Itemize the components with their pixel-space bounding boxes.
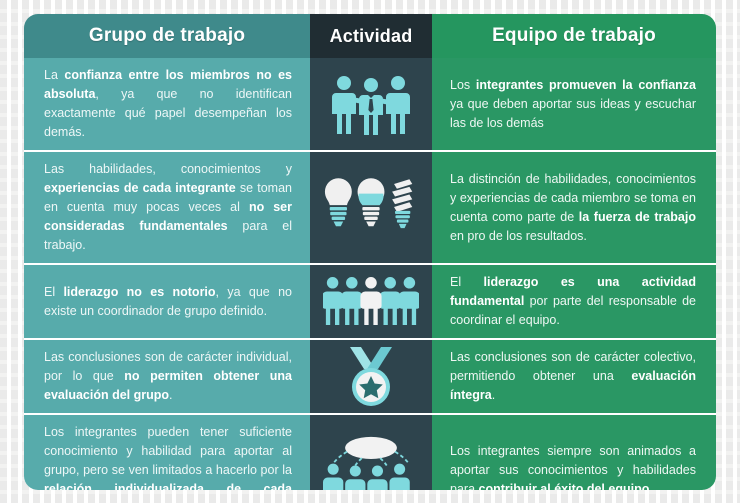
- three-lightbulbs-icon: [323, 172, 419, 244]
- row-1-equipo-cell: Los integrantes promueven la confianza y…: [432, 58, 716, 150]
- five-people-one-highlighted-icon: [323, 266, 419, 338]
- header-equipo-de-trabajo: Equipo de trabajo: [432, 14, 716, 58]
- table-row: Las habilidades, conocimientos y experie…: [24, 150, 716, 263]
- table-header-row: Grupo de trabajo Actividad Equipo de tra…: [24, 14, 716, 58]
- row-2-activity-cell: [310, 152, 432, 263]
- row-1-activity-cell: [310, 58, 432, 150]
- row-3-equipo-cell: El liderazgo es una actividad fundamenta…: [432, 265, 716, 338]
- row-5-activity-cell: [310, 415, 432, 490]
- row-1-grupo-text: La confianza entre los miembros no es ab…: [44, 66, 292, 142]
- row-2-grupo-cell: Las habilidades, conocimientos y experie…: [24, 152, 310, 263]
- three-people-embracing-icon: [323, 68, 419, 140]
- row-3-grupo-text: El liderazgo no es notorio, ya que no ex…: [44, 283, 292, 321]
- row-3-grupo-cell: El liderazgo no es notorio, ya que no ex…: [24, 265, 310, 338]
- header-actividad: Actividad: [310, 14, 432, 58]
- table-body: La confianza entre los miembros no es ab…: [24, 58, 716, 490]
- header-grupo-de-trabajo: Grupo de trabajo: [24, 14, 310, 58]
- row-5-equipo-text: Los integrantes siempre son animados a a…: [450, 442, 696, 490]
- comparison-table: Grupo de trabajo Actividad Equipo de tra…: [24, 14, 716, 490]
- row-3-activity-cell: [310, 265, 432, 338]
- row-2-equipo-cell: La distinción de habilidades, conocimien…: [432, 152, 716, 263]
- row-2-grupo-text: Las habilidades, conocimientos y experie…: [44, 160, 292, 255]
- row-4-equipo-cell: Las conclusiones son de carácter colecti…: [432, 340, 716, 413]
- row-4-equipo-text: Las conclusiones son de carácter colecti…: [450, 348, 696, 405]
- row-4-grupo-text: Las conclusiones son de carácter individ…: [44, 348, 292, 405]
- row-5-grupo-cell: Los integrantes pueden tener suficiente …: [24, 415, 310, 490]
- table-row: Las conclusiones son de carácter individ…: [24, 338, 716, 413]
- row-1-grupo-cell: La confianza entre los miembros no es ab…: [24, 58, 310, 150]
- table-row: El liderazgo no es notorio, ya que no ex…: [24, 263, 716, 338]
- row-4-grupo-cell: Las conclusiones son de carácter individ…: [24, 340, 310, 413]
- row-5-grupo-text: Los integrantes pueden tener suficiente …: [44, 423, 292, 490]
- table-row: La confianza entre los miembros no es ab…: [24, 58, 716, 150]
- table-row: Los integrantes pueden tener suficiente …: [24, 413, 716, 490]
- row-4-activity-cell: [310, 340, 432, 413]
- row-5-equipo-cell: Los integrantes siempre son animados a a…: [432, 415, 716, 490]
- medal-star-icon: [323, 341, 419, 413]
- four-people-connected-to-goal-icon: [323, 435, 419, 491]
- row-2-equipo-text: La distinción de habilidades, conocimien…: [450, 170, 696, 246]
- row-3-equipo-text: El liderazgo es una actividad fundamenta…: [450, 273, 696, 330]
- row-1-equipo-text: Los integrantes promueven la confianza y…: [450, 76, 696, 133]
